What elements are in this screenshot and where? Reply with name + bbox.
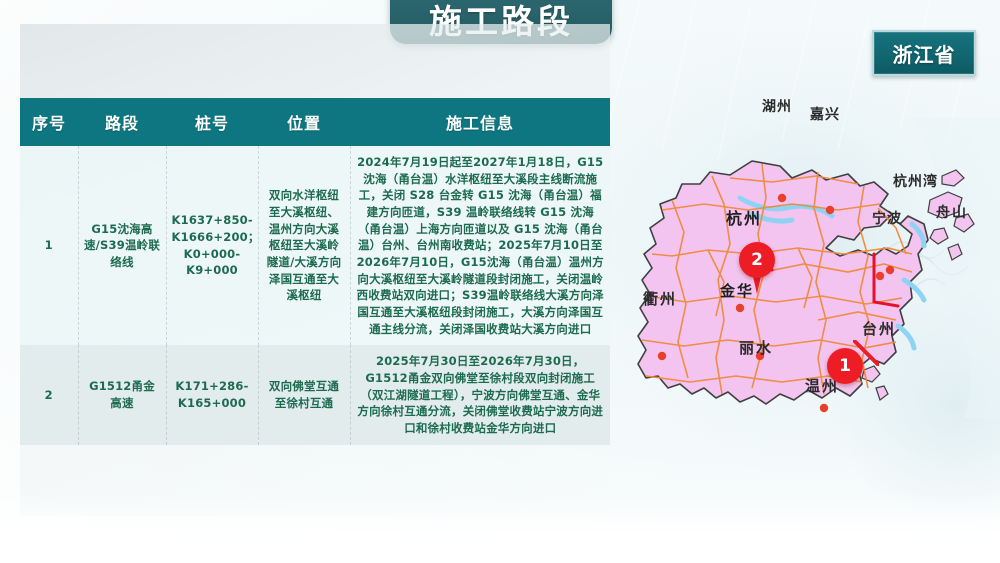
- slide-root: 施工路段 浙江省 序号 路段 桩号 位置 施工信息 1: [0, 0, 1000, 563]
- column-header-road: 路段: [78, 98, 166, 146]
- cell-location: 双向水洋枢纽至大溪枢纽、温州方向大溪枢纽至大溪岭隧道/大溪方向泽国互通至大溪枢纽: [258, 146, 350, 345]
- map-marker-1[interactable]: 1: [827, 348, 863, 384]
- cell-road: G1512甬金高速: [78, 345, 166, 444]
- cell-index: 2: [20, 345, 78, 444]
- city-label-huzhou: 湖州: [762, 96, 792, 116]
- table-header-row: 序号 路段 桩号 位置 施工信息: [20, 98, 610, 146]
- cell-index: 1: [20, 146, 78, 345]
- construction-schedule-table: 序号 路段 桩号 位置 施工信息 1 G15沈海高速/S39温岭联络线 K163…: [20, 98, 610, 445]
- city-label-jinhua: 金华: [720, 280, 754, 301]
- city-label-hangzhou-bay: 杭州湾: [893, 171, 938, 191]
- background-bottom-fade: [0, 493, 1000, 563]
- city-label-ningbo: 宁波: [872, 208, 902, 228]
- table-row: 2 G1512甬金高速 K171+286-K165+000 双向佛堂互通至徐村互…: [20, 345, 610, 444]
- cell-location: 双向佛堂互通至徐村互通: [258, 345, 350, 444]
- column-header-location: 位置: [258, 98, 350, 146]
- map-sea-decor: [912, 118, 1000, 418]
- construction-table-wrapper: 序号 路段 桩号 位置 施工信息 1 G15沈海高速/S39温岭联络线 K163…: [20, 98, 610, 516]
- city-label-lishui: 丽水: [739, 337, 773, 358]
- city-label-quzhou: 衢州: [643, 288, 677, 309]
- column-header-info: 施工信息: [350, 98, 610, 146]
- cell-stake: K1637+850-K1666+200；K0+000-K9+000: [166, 146, 258, 345]
- column-header-stake: 桩号: [166, 98, 258, 146]
- city-label-taizhou: 台州: [862, 318, 896, 339]
- map-marker-2[interactable]: 2: [739, 242, 775, 278]
- city-label-zhoushan: 舟山: [936, 202, 968, 222]
- city-label-jiaxing: 嘉兴: [810, 104, 840, 124]
- cell-info: 2025年7月30日至2026年7月30日，G1512甬金双向佛堂至徐村段双向封…: [350, 345, 610, 444]
- zhejiang-map: [612, 58, 1000, 508]
- column-header-index: 序号: [20, 98, 78, 146]
- cell-info: 2024年7月19日起至2027年1月18日，G15沈海（甬台温）水洋枢纽至大溪…: [350, 146, 610, 345]
- cell-stake: K171+286-K165+000: [166, 345, 258, 444]
- city-label-hangzhou: 杭州: [726, 205, 762, 229]
- table-row: 1 G15沈海高速/S39温岭联络线 K1637+850-K1666+200；K…: [20, 146, 610, 345]
- cell-road: G15沈海高速/S39温岭联络线: [78, 146, 166, 345]
